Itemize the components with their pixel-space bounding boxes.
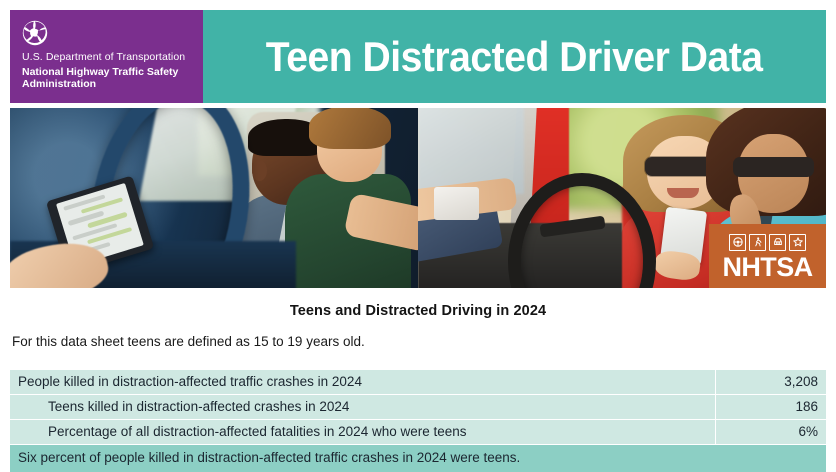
nhtsa-pictogram-row: [729, 234, 806, 251]
table-note: Six percent of people killed in distract…: [10, 445, 826, 472]
row-value: 3,208: [716, 370, 827, 395]
teen-distraction-data-table: People killed in distraction-affected tr…: [10, 370, 826, 472]
dot-brand-block: U.S. Department of Transportation Nation…: [10, 10, 203, 103]
nhtsa-agency-name-line2: Administration: [22, 78, 96, 90]
row-label: Teens killed in distraction-affected cra…: [10, 395, 716, 420]
car-front-icon: [769, 234, 786, 251]
table-body: People killed in distraction-affected tr…: [10, 370, 826, 472]
photo-teen-driver-texting: [10, 108, 418, 288]
intro-paragraph: For this data sheet teens are defined as…: [12, 334, 812, 349]
table-row: People killed in distraction-affected tr…: [10, 370, 826, 395]
table-note-row: Six percent of people killed in distract…: [10, 445, 826, 472]
row-label: Percentage of all distraction-affected f…: [10, 420, 716, 445]
pedestrian-icon: [749, 234, 766, 251]
teen-passenger-figure: [279, 112, 418, 288]
nhtsa-agency-name: National Highway Traffic Safety Administ…: [22, 66, 203, 90]
sunglasses-icon: [733, 157, 814, 178]
dot-agency-name: U.S. Department of Transportation: [22, 51, 203, 63]
page-header: U.S. Department of Transportation Nation…: [10, 10, 826, 103]
row-value: 186: [716, 395, 827, 420]
row-value: 6%: [716, 420, 827, 445]
photo-teens-with-phone: NHTSA: [418, 108, 826, 288]
dot-triskelion-icon: [22, 20, 48, 46]
fact-sheet: U.S. Department of Transportation Nation…: [0, 0, 836, 464]
page-title: Teen Distracted Driver Data: [266, 35, 763, 79]
star-icon: [789, 234, 806, 251]
nhtsa-agency-name-line1: National Highway Traffic Safety: [22, 66, 178, 78]
nhtsa-logo-badge: NHTSA: [709, 224, 826, 288]
steering-wheel-icon: [729, 234, 746, 251]
table-row: Teens killed in distraction-affected cra…: [10, 395, 826, 420]
photo-strip: NHTSA: [10, 108, 826, 288]
nhtsa-wordmark: NHTSA: [723, 253, 813, 281]
row-label: People killed in distraction-affected tr…: [10, 370, 716, 395]
section-heading: Teens and Distracted Driving in 2024: [10, 303, 826, 319]
table-row: Percentage of all distraction-affected f…: [10, 420, 826, 445]
title-banner: Teen Distracted Driver Data: [203, 10, 826, 103]
